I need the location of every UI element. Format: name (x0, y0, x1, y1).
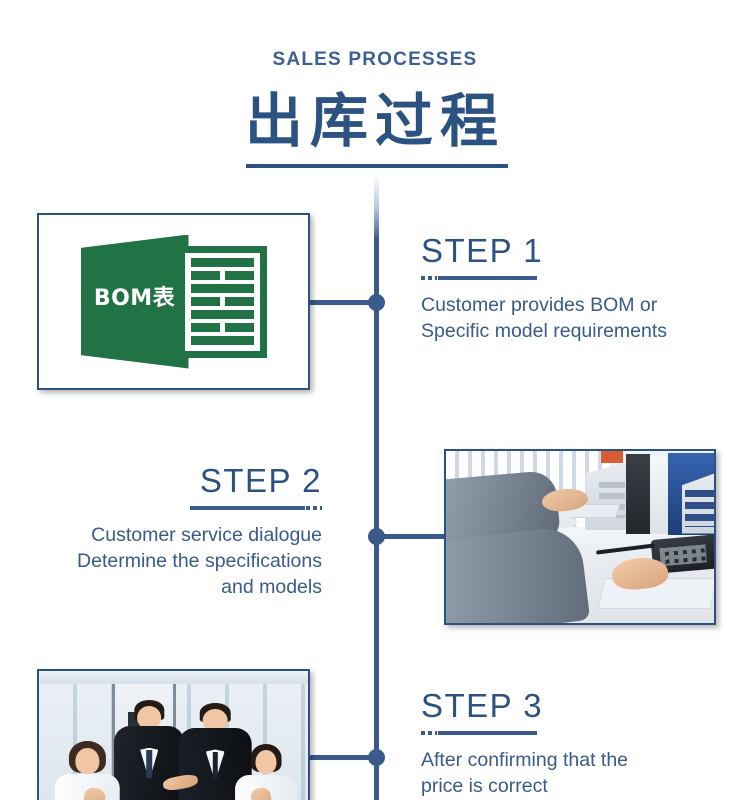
step-3-text-block: STEP 3 After confirming that the price i… (421, 689, 628, 800)
office-typing-photo (446, 451, 714, 623)
businesswoman-right (235, 744, 297, 800)
bom-icon-label: BOM表 (81, 280, 189, 312)
step-1-heading-underline (421, 276, 537, 280)
step-3-description: After confirming that the price is corre… (421, 748, 628, 800)
connector-branch-step-1 (310, 300, 374, 305)
step-1-text-block: STEP 1 Customer provides BOM or Specific… (421, 234, 667, 345)
timeline-node-step-2 (368, 528, 385, 545)
step-2-description: Customer service dialogue Determine the … (0, 523, 322, 601)
underline-solid (190, 506, 305, 510)
bom-sheet-row (191, 284, 254, 293)
step-1-heading: STEP 1 (421, 234, 667, 267)
step-2-heading-underline (190, 506, 322, 510)
page-title: 出库过程 (0, 85, 750, 158)
step-1-description: Customer provides BOM or Specific model … (421, 293, 667, 345)
bom-icon-sheet (178, 246, 267, 358)
head (256, 750, 277, 774)
page-header: SALES PROCESSES 出库过程 (0, 0, 750, 158)
step-3-heading: STEP 3 (421, 689, 628, 722)
timeline-spine (374, 238, 379, 800)
connector-branch-step-3 (310, 755, 374, 760)
underline-solid (438, 276, 537, 280)
bom-icon-sheet-grid (185, 253, 260, 351)
step-1-media-frame: BOM表 (37, 213, 310, 390)
bom-excel-icon: BOM表 (81, 235, 267, 369)
page-eyebrow: SALES PROCESSES (0, 50, 750, 69)
binder-black (626, 454, 650, 533)
timeline-spine-fade (374, 168, 379, 240)
businesswoman-left (55, 741, 120, 800)
timeline-node-step-3 (368, 749, 385, 766)
bom-sheet-row (191, 258, 254, 267)
timeline-node-step-1 (368, 294, 385, 311)
underline-dots (306, 506, 322, 510)
step-3-media-frame (37, 669, 310, 800)
bom-sheet-row (191, 297, 254, 306)
bom-sheet-row (191, 310, 254, 319)
bom-sheet-row (191, 271, 254, 280)
bom-sheet-row (191, 336, 254, 345)
bom-sheet-row (191, 323, 254, 332)
handshake-team-photo (39, 671, 308, 800)
step-3-heading-underline (421, 731, 537, 735)
infographic-page: SALES PROCESSES 出库过程 STEP 1 Customer pro… (0, 0, 750, 800)
underline-dots (421, 276, 437, 280)
underline-dots (421, 731, 437, 735)
step-2-heading: STEP 2 (0, 464, 322, 497)
necktie (212, 752, 218, 779)
necktie (146, 750, 152, 777)
step-2-text-block: STEP 2 Customer service dialogue Determi… (0, 464, 322, 601)
head (76, 748, 99, 774)
step-2-media-frame (444, 449, 716, 625)
underline-solid (438, 731, 537, 735)
connector-branch-step-2 (379, 534, 445, 539)
person-front-suit-arm (444, 524, 591, 625)
ceiling-lights (39, 671, 308, 684)
orange-folder (601, 451, 622, 463)
